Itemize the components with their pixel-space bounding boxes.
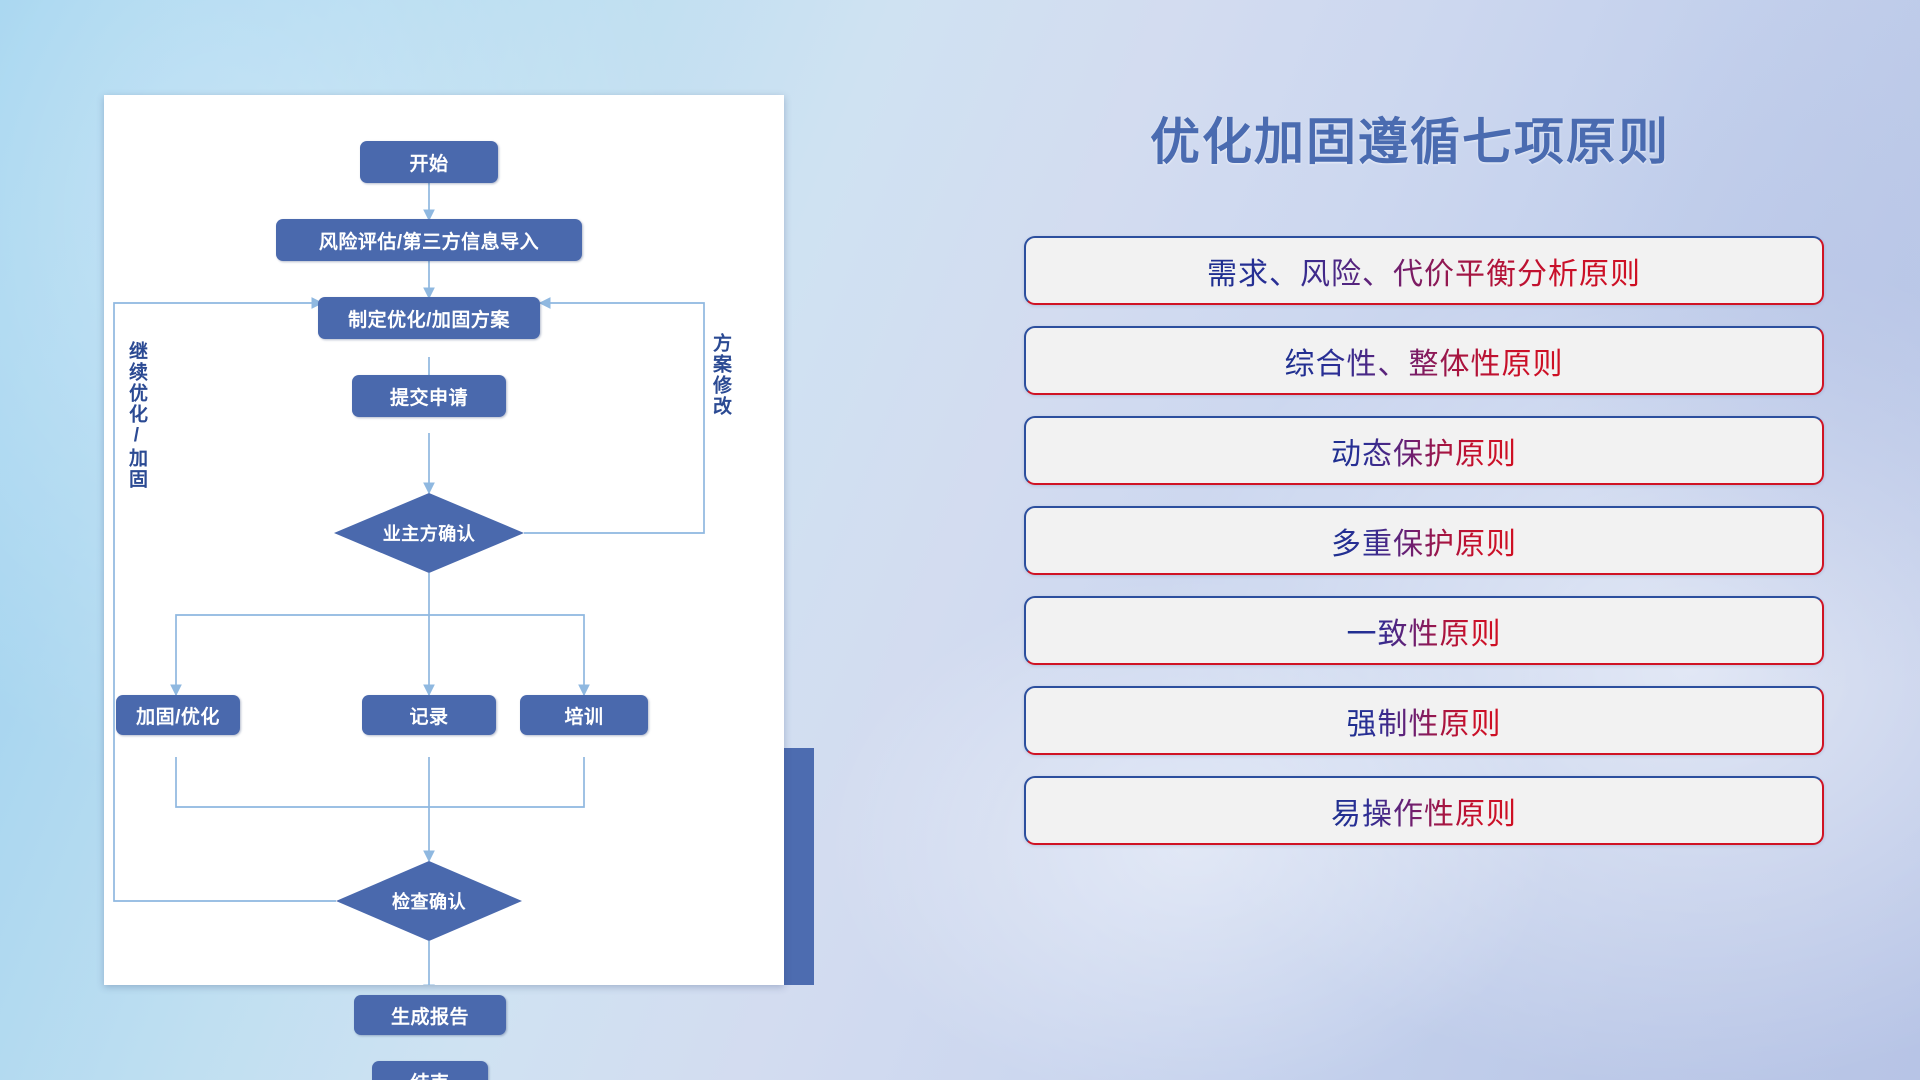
principle-label: 多重保护原则 bbox=[1331, 519, 1517, 563]
principle-card[interactable]: 强制性原则 bbox=[1024, 686, 1824, 755]
flow-node-report[interactable]: 生成报告 bbox=[354, 995, 506, 1035]
principle-card[interactable]: 动态保护原则 bbox=[1024, 416, 1824, 485]
flowchart-card: 开始 风险评估/第三方信息导入 制定优化/加固方案 提交申请 业主方确认 加固/… bbox=[104, 95, 784, 985]
flow-node-record[interactable]: 记录 bbox=[362, 695, 496, 735]
flow-node-end[interactable]: 结束 bbox=[372, 1061, 488, 1080]
flow-node-owner-confirm[interactable]: 业主方确认 bbox=[334, 493, 524, 573]
flow-node-start[interactable]: 开始 bbox=[360, 141, 498, 183]
edge-label-plan-revision: 方案修改 bbox=[710, 333, 730, 417]
flow-node-check-confirm[interactable]: 检查确认 bbox=[336, 861, 522, 941]
flow-node-risk-assessment[interactable]: 风险评估/第三方信息导入 bbox=[276, 219, 582, 261]
principle-label: 需求、风险、代价平衡分析原则 bbox=[1207, 249, 1641, 293]
flow-node-end-label: 结束 bbox=[410, 1068, 449, 1080]
principle-label: 易操作性原则 bbox=[1331, 789, 1517, 833]
principles-panel: 优化加固遵循七项原则 需求、风险、代价平衡分析原则 综合性、整体性原则 动态保护… bbox=[1000, 0, 1920, 1080]
flow-node-training[interactable]: 培训 bbox=[520, 695, 648, 735]
flow-node-owner-confirm-label: 业主方确认 bbox=[383, 520, 476, 546]
flow-node-submit-label: 提交申请 bbox=[390, 383, 468, 410]
edge-label-continue-optimize: 继续优化/加固 bbox=[126, 341, 146, 490]
page-title: 优化加固遵循七项原则 bbox=[1000, 102, 1820, 174]
principle-card[interactable]: 多重保护原则 bbox=[1024, 506, 1824, 575]
flow-node-record-label: 记录 bbox=[409, 702, 448, 729]
flow-node-submit[interactable]: 提交申请 bbox=[352, 375, 506, 417]
principle-label: 动态保护原则 bbox=[1331, 429, 1517, 473]
flow-node-reinforce-label: 加固/优化 bbox=[136, 702, 220, 729]
flow-node-check-confirm-label: 检查确认 bbox=[392, 888, 466, 914]
principle-card[interactable]: 一致性原则 bbox=[1024, 596, 1824, 665]
flow-node-start-label: 开始 bbox=[409, 149, 448, 176]
flow-node-plan-label: 制定优化/加固方案 bbox=[348, 305, 510, 332]
principle-label: 综合性、整体性原则 bbox=[1285, 339, 1564, 383]
principle-card[interactable]: 综合性、整体性原则 bbox=[1024, 326, 1824, 395]
flow-node-plan[interactable]: 制定优化/加固方案 bbox=[318, 297, 540, 339]
principle-card[interactable]: 易操作性原则 bbox=[1024, 776, 1824, 845]
slide-root: 开始 风险评估/第三方信息导入 制定优化/加固方案 提交申请 业主方确认 加固/… bbox=[0, 0, 1920, 1080]
principle-card[interactable]: 需求、风险、代价平衡分析原则 bbox=[1024, 236, 1824, 305]
flow-node-risk-assessment-label: 风险评估/第三方信息导入 bbox=[319, 227, 539, 254]
principle-label: 强制性原则 bbox=[1347, 699, 1502, 743]
principle-label: 一致性原则 bbox=[1347, 609, 1502, 653]
flow-node-report-label: 生成报告 bbox=[391, 1002, 469, 1029]
flow-node-reinforce[interactable]: 加固/优化 bbox=[116, 695, 240, 735]
flow-node-training-label: 培训 bbox=[564, 702, 603, 729]
principle-list: 需求、风险、代价平衡分析原则 综合性、整体性原则 动态保护原则 多重保护原则 一… bbox=[1024, 236, 1824, 866]
